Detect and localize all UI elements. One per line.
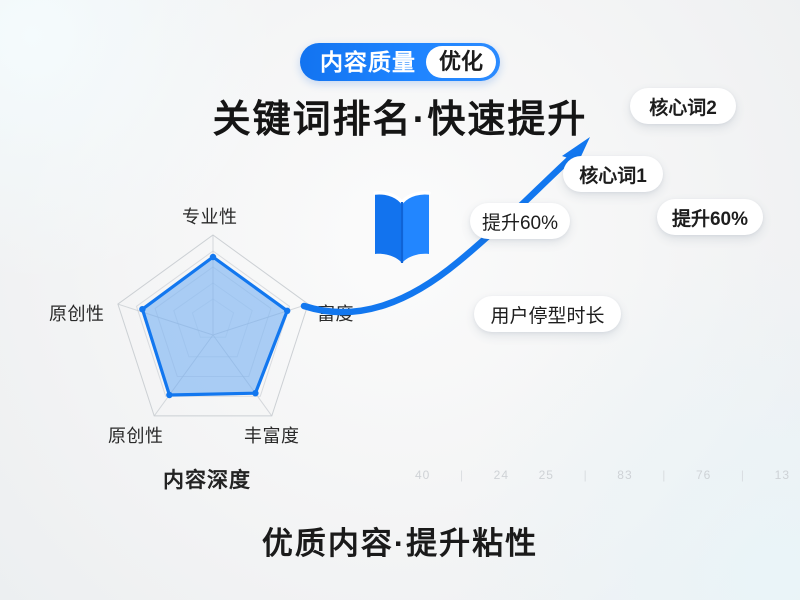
pill-uplift-left-label: 提升60% xyxy=(482,208,558,235)
content-quality-badge[interactable]: 内容质量 优化 xyxy=(300,43,500,81)
pill-keyword-2-label: 核心词2 xyxy=(649,93,717,120)
scale-value: 25 xyxy=(539,468,554,482)
baseline-scale: 40|2425|83|76|13 xyxy=(415,466,790,484)
scale-value: 13 xyxy=(775,468,790,482)
scale-value: 40 xyxy=(415,468,430,482)
radar-label-left: 原创性 xyxy=(49,300,105,326)
badge-main-label: 内容质量 xyxy=(300,46,426,78)
pill-dwell-time-label: 用户停型时长 xyxy=(490,301,604,328)
radar-label-top: 专业性 xyxy=(182,203,238,229)
scale-tick: | xyxy=(460,468,464,482)
pill-keyword-1-label: 核心词1 xyxy=(579,161,647,188)
scale-tick: | xyxy=(741,468,745,482)
scale-tick: | xyxy=(662,468,666,482)
scale-value: 24 xyxy=(494,468,509,482)
scale-value: 76 xyxy=(696,468,711,482)
radar-label-bottom-right: 丰富度 xyxy=(244,422,300,448)
content-depth-label: 内容深度 xyxy=(163,464,251,494)
pill-uplift-right[interactable]: 提升60% xyxy=(657,199,763,235)
badge-tag-label: 优化 xyxy=(426,46,496,78)
open-book-svg xyxy=(371,186,433,274)
open-book-icon xyxy=(371,186,433,274)
scale-tick: | xyxy=(584,468,588,482)
footer-title: 优质内容·提升粘性 xyxy=(0,518,800,563)
pill-uplift-right-label: 提升60% xyxy=(672,204,748,231)
poster-canvas: 内容质量 优化 关键词排名·快速提升 xyxy=(0,0,800,600)
pill-keyword-2[interactable]: 核心词2 xyxy=(630,88,736,124)
pill-dwell-time[interactable]: 用户停型时长 xyxy=(474,296,621,332)
scale-value: 83 xyxy=(617,468,632,482)
pill-keyword-1[interactable]: 核心词1 xyxy=(563,156,663,192)
radar-label-bottom-left: 原创性 xyxy=(108,422,164,448)
radar-series-content-quality xyxy=(139,254,290,398)
pill-uplift-left[interactable]: 提升60% xyxy=(470,203,570,239)
